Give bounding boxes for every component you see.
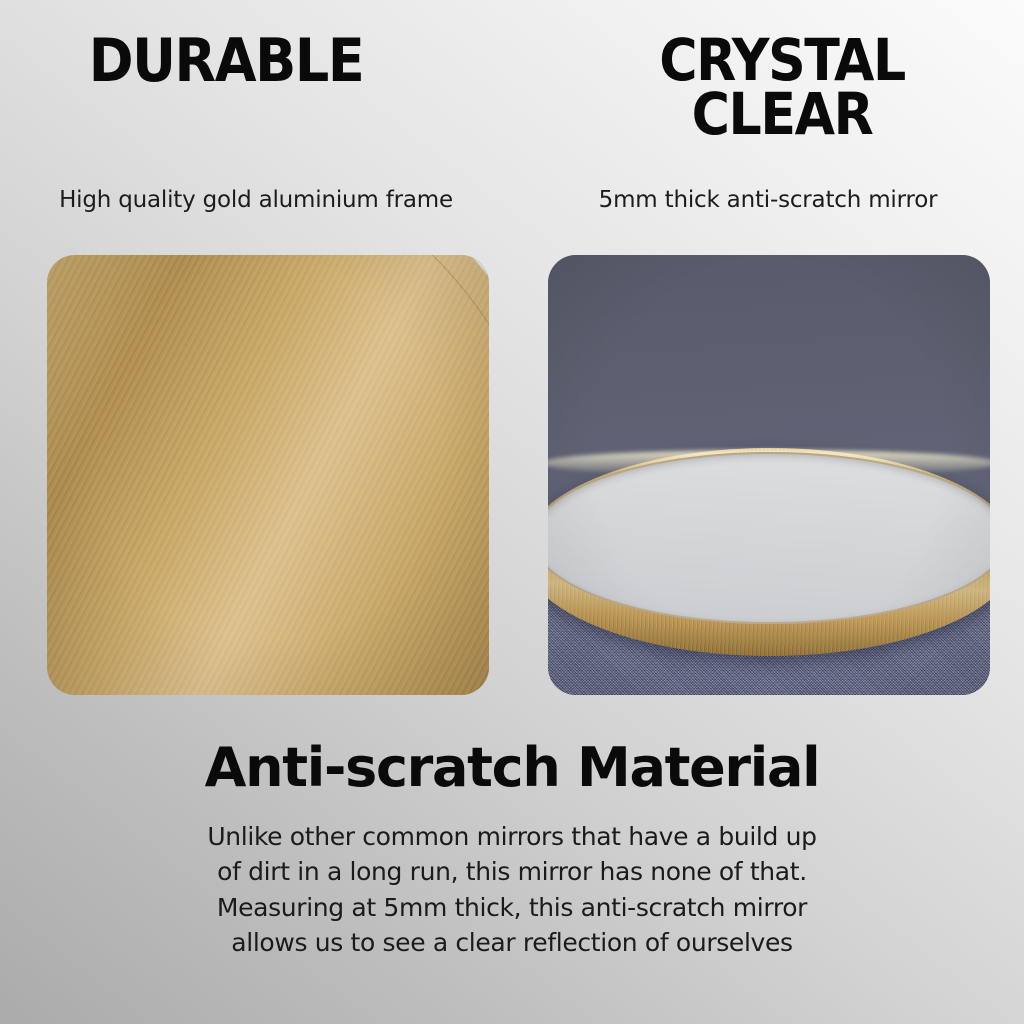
gold-brushed-texture [47,255,489,695]
gold-frame-closeup-photo [47,255,489,695]
body-line: allows us to see a clear reflection of o… [207,925,816,961]
crystal-clear-caption: 5mm thick anti-scratch mirror [568,186,968,256]
durable-caption: High quality gold aluminium frame [46,186,466,256]
captions-row: High quality gold aluminium frame 5mm th… [0,186,1024,256]
bottom-section: Anti-scratch Material Unlike other commo… [0,740,1024,1024]
round-mirror-photo-content [548,255,990,695]
crystal-clear-caption-column: 5mm thick anti-scratch mirror [512,186,1024,256]
mirror-glass-edge [548,452,990,624]
durable-headline-line-1: DURABLE [89,34,364,90]
round-mirror-on-carpet-photo [548,255,990,695]
bottom-section-body: Unlike other common mirrors that have a … [207,819,816,961]
crystal-clear-headline: CRYSTAL CLEAR [659,34,905,142]
durable-caption-column: High quality gold aluminium frame [0,186,512,256]
feature-crystal-clear-heading-column: CRYSTAL CLEAR [512,0,1024,180]
body-line: Measuring at 5mm thick, this anti-scratc… [207,890,816,926]
feature-durable-heading-column: DURABLE [0,0,512,180]
body-line: of dirt in a long run, this mirror has n… [207,854,816,890]
photos-row [0,255,1024,697]
durable-headline: DURABLE [89,34,364,90]
round-mirror [548,448,990,656]
crystal-clear-headline-line-2: CLEAR [659,88,905,142]
headings-row: DURABLE CRYSTAL CLEAR [0,0,1024,180]
infographic-page: DURABLE CRYSTAL CLEAR High quality gold … [0,0,1024,1024]
gold-frame-band-wrap [47,255,489,695]
gold-frame-photo-content [47,255,489,695]
bottom-section-title: Anti-scratch Material [205,740,820,797]
body-line: Unlike other common mirrors that have a … [207,819,816,855]
